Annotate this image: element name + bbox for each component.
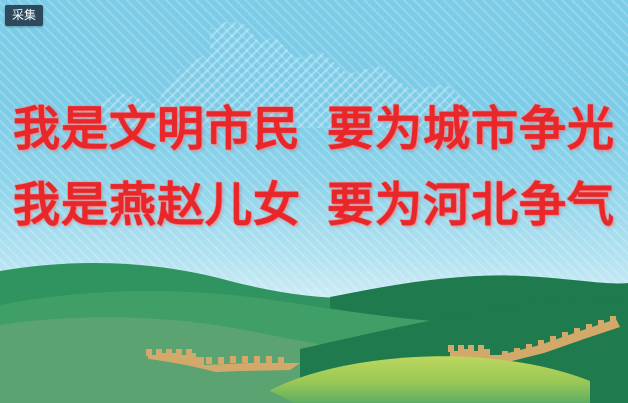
slogan-line1-part1: 我是文明市民 [13, 102, 301, 157]
slogan-line-2: 我是燕赵儿女要为河北争气 [0, 168, 628, 244]
propaganda-banner: 我是文明市民要为城市争光 我是燕赵儿女要为河北争气 [0, 0, 628, 403]
slogan-block: 我是文明市民要为城市争光 我是燕赵儿女要为河北争气 [0, 92, 628, 244]
slogan-line2-part1: 我是燕赵儿女 [13, 178, 301, 233]
hills-scenery [0, 253, 628, 403]
slogan-line1-part2: 要为城市争光 [327, 102, 615, 157]
capture-button[interactable]: 采集 [5, 5, 43, 26]
slogan-line-1: 我是文明市民要为城市争光 [0, 92, 628, 168]
slogan-line2-part2: 要为河北争气 [327, 178, 615, 233]
